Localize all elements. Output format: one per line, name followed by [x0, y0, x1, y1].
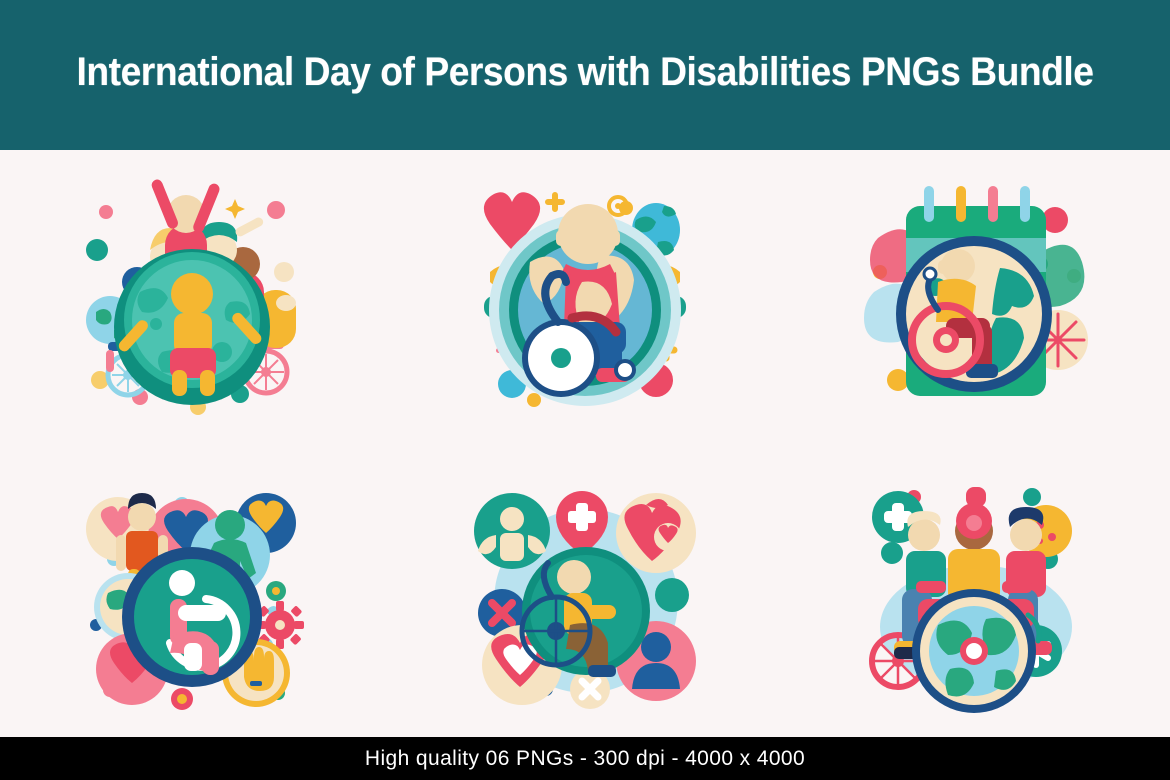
footer-caption: High quality 06 PNGs - 300 dpi - 4000 x …: [0, 747, 1170, 771]
illustration-three-people-wheel-globe: [780, 444, 1170, 738]
people-group-globe-art: [70, 172, 320, 422]
accessibility-symbol-art: [70, 465, 320, 715]
illustration-grid: [0, 150, 1170, 737]
calendar-globe-art: [850, 172, 1100, 422]
poster-canvas: International Day of Persons with Disabi…: [0, 0, 1170, 780]
wheelchair-badges-art: [460, 465, 710, 715]
header-banner: International Day of Persons with Disabi…: [0, 0, 1170, 150]
page-title: International Day of Persons with Disabi…: [41, 50, 1129, 95]
illustration-people-group-globe: [0, 150, 390, 444]
illustration-accessibility-symbol-icons: [0, 444, 390, 738]
three-people-wheel-art: [850, 465, 1100, 715]
illustration-wheelchair-user-icon-badges: [390, 444, 780, 738]
illustration-wheelchair-user-globe-circle: [390, 150, 780, 444]
footer-banner: High quality 06 PNGs - 300 dpi - 4000 x …: [0, 737, 1170, 780]
wheelchair-user-globe-art: [460, 172, 710, 422]
illustration-calendar-globe-wheelchair: [780, 150, 1170, 444]
